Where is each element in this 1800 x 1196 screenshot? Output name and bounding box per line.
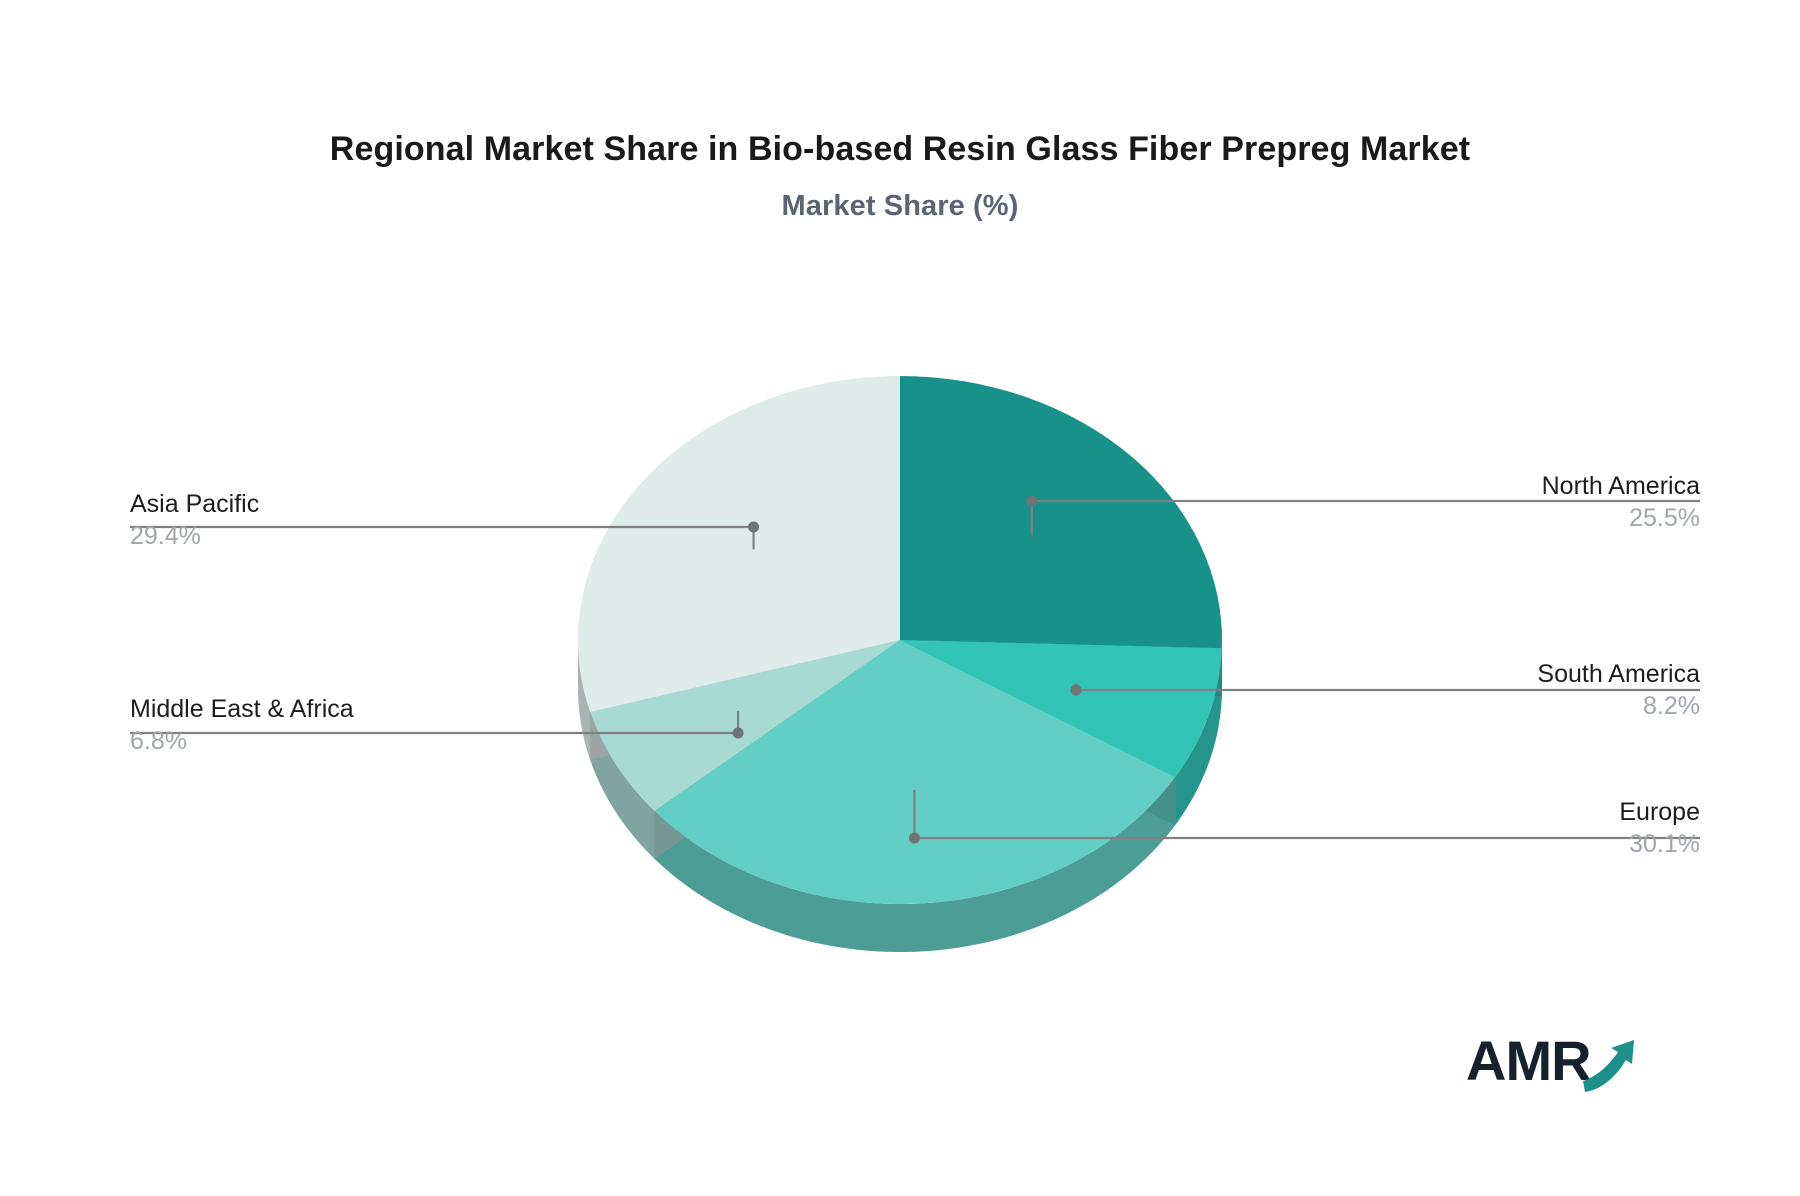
callout-middle-east-africa[interactable]: Middle East & Africa 6.8% xyxy=(130,695,354,757)
callout-asia-pacific[interactable]: Asia Pacific 29.4% xyxy=(130,490,259,552)
amr-logo: AMR xyxy=(1466,1024,1646,1100)
callout-value-europe: 30.1% xyxy=(1619,828,1700,861)
growth-arrow-icon xyxy=(1583,1040,1634,1092)
leader-dot xyxy=(733,728,744,739)
callout-south-america[interactable]: South America 8.2% xyxy=(1537,660,1700,722)
chart-canvas: Regional Market Share in Bio-based Resin… xyxy=(0,0,1800,1196)
callout-value-north-america: 25.5% xyxy=(1542,502,1700,535)
callout-label-asia-pacific: Asia Pacific xyxy=(130,490,259,520)
pie-slice-north-america[interactable] xyxy=(900,376,1222,648)
callout-value-asia-pacific: 29.4% xyxy=(130,520,259,553)
callout-label-europe: Europe xyxy=(1619,798,1700,828)
pie-chart xyxy=(0,0,1800,1196)
callout-value-middle-east-africa: 6.8% xyxy=(130,725,354,758)
callout-label-south-america: South America xyxy=(1537,660,1700,690)
callout-label-north-america: North America xyxy=(1542,472,1700,502)
amr-logo-text: AMR xyxy=(1466,1029,1591,1092)
leader-dot xyxy=(1070,685,1081,696)
callout-north-america[interactable]: North America 25.5% xyxy=(1542,472,1700,534)
leader-dot xyxy=(1026,496,1037,507)
pie-slices-group xyxy=(578,376,1222,952)
leader-dot xyxy=(748,522,759,533)
callout-europe[interactable]: Europe 30.1% xyxy=(1619,798,1700,860)
leader-dot xyxy=(909,833,920,844)
callout-value-south-america: 8.2% xyxy=(1537,690,1700,723)
callout-label-middle-east-africa: Middle East & Africa xyxy=(130,695,354,725)
